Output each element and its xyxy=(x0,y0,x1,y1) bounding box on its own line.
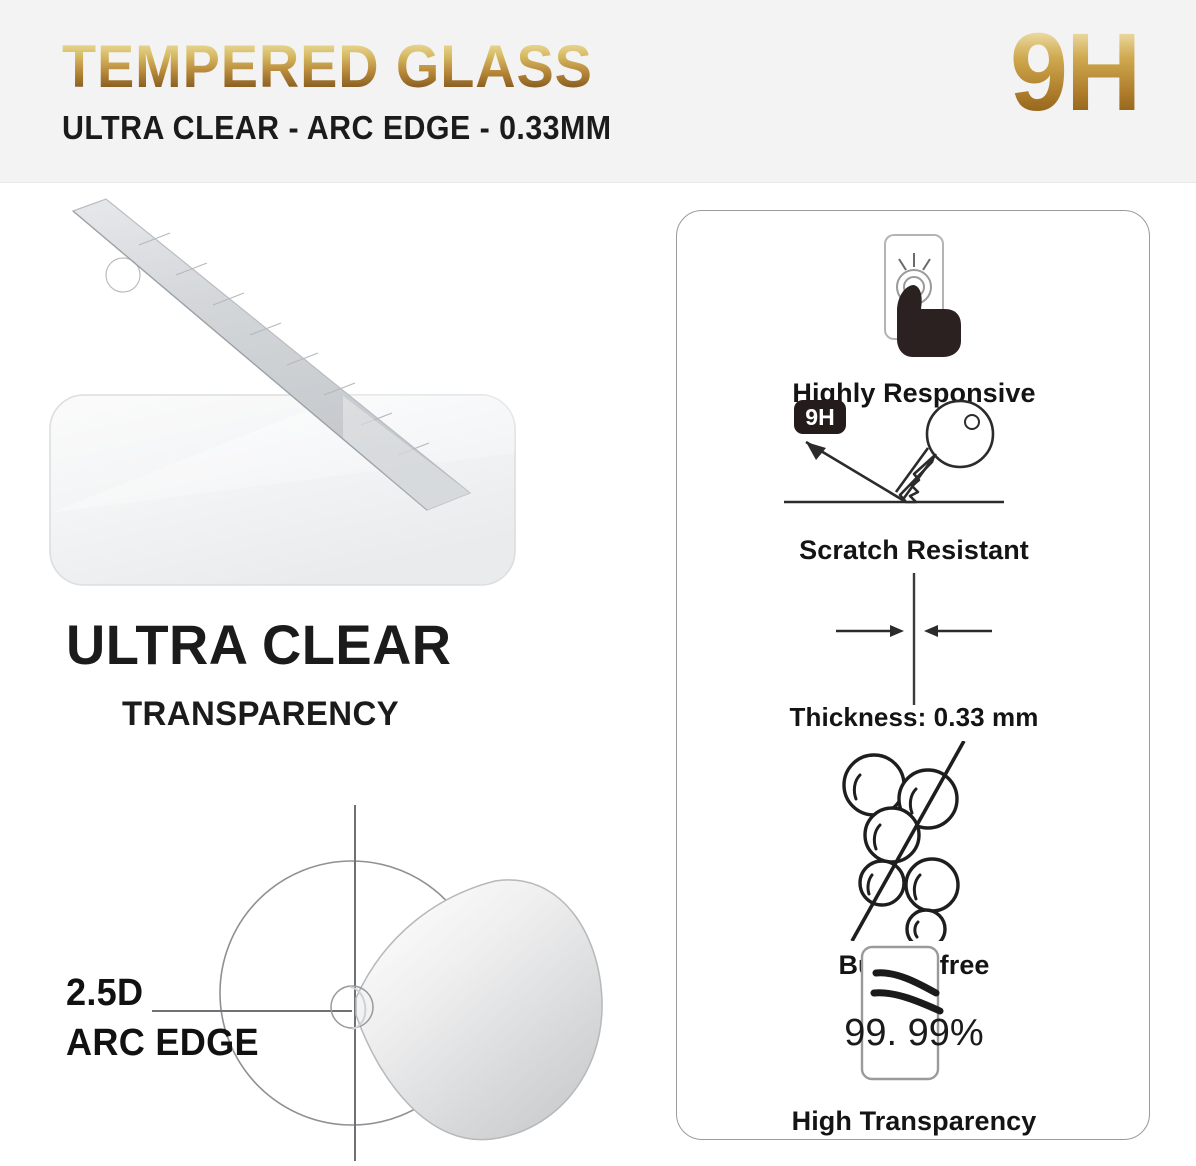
key-icon xyxy=(896,401,993,502)
arrow-right-icon xyxy=(836,625,904,637)
hardness-badge-9h: 9H xyxy=(1010,18,1140,128)
header-text-group: TEMPERED GLASS ULTRA CLEAR - ARC EDGE - … xyxy=(62,36,659,147)
header-banner: TEMPERED GLASS ULTRA CLEAR - ARC EDGE - … xyxy=(0,0,1196,183)
arc-edge-illustration: 2.5D ARC EDGE xyxy=(0,783,660,1161)
svg-text:9H: 9H xyxy=(805,404,834,430)
transparency-subhead: TRANSPARENCY xyxy=(122,695,453,734)
transparency-value: 99. 99% xyxy=(844,1012,983,1054)
badge-9h-small: 9H xyxy=(794,400,846,434)
page-subtitle: ULTRA CLEAR - ARC EDGE - 0.33MM xyxy=(62,109,612,147)
ultra-clear-headline: ULTRA CLEAR xyxy=(66,617,452,673)
deflection-arrow-icon xyxy=(806,442,906,502)
arc-edge-name-label: ARC EDGE xyxy=(66,1018,259,1068)
page-title: TEMPERED GLASS xyxy=(62,36,617,97)
feature-high-transparency: 99. 99% High Transparency xyxy=(677,941,1151,1137)
arc-edge-value-label: 2.5D xyxy=(66,968,259,1018)
feature-scratch-resistant: 9H Scratch Resistant xyxy=(677,394,1151,566)
feature-label-thickness: Thickness: 0.33 mm xyxy=(790,702,1039,733)
feature-highly-responsive: Highly Responsive xyxy=(677,225,1151,409)
thickness-arrows-icon xyxy=(764,569,1064,714)
feature-thickness: Thickness: 0.33 mm xyxy=(677,569,1151,733)
left-panel: ULTRA CLEAR TRANSPARENCY xyxy=(0,183,660,1161)
feature-label-high-transparency: High Transparency xyxy=(792,1106,1037,1137)
bubbles-crossed-icon xyxy=(804,741,1024,946)
phone-transparency-icon: 99. 99% xyxy=(784,941,1044,1096)
ultra-clear-text-group: ULTRA CLEAR TRANSPARENCY xyxy=(66,617,463,734)
arc-edge-label-group: 2.5D ARC EDGE xyxy=(66,968,269,1068)
touch-phone-icon xyxy=(839,225,989,370)
key-scratch-icon: 9H xyxy=(764,394,1064,529)
blade-glass-illustration xyxy=(0,183,660,603)
features-panel: Highly Responsive 9H xyxy=(676,210,1150,1140)
arrow-left-icon xyxy=(924,625,992,637)
feature-label-scratch-resistant: Scratch Resistant xyxy=(799,535,1029,566)
